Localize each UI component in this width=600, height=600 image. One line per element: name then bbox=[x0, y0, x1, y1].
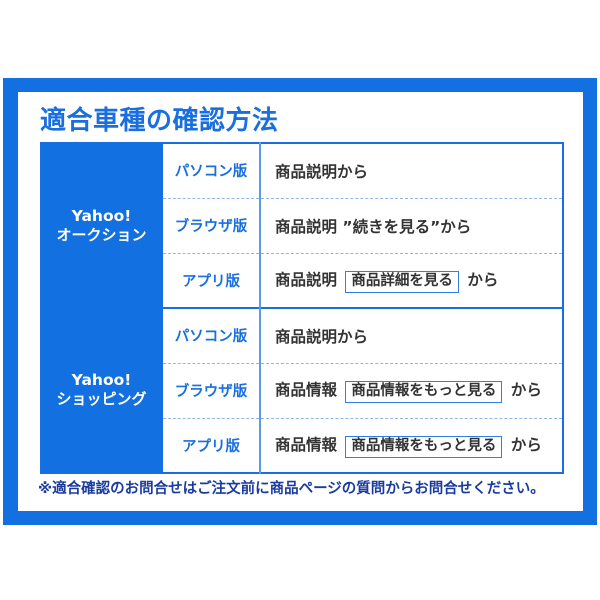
detail-suffix: から bbox=[511, 381, 542, 399]
platform-kind: オークション bbox=[42, 226, 161, 244]
detail-cell: 商品説明から bbox=[260, 308, 563, 363]
detail-suffix: から bbox=[467, 271, 498, 289]
platform-kind: ショッピング bbox=[42, 390, 161, 408]
detail-prefix: 商品情報 bbox=[275, 436, 337, 454]
device-cell-pc: パソコン版 bbox=[162, 308, 260, 363]
device-cell-browser: ブラウザ版 bbox=[162, 363, 260, 418]
info-banner: 適合車種の確認方法 Yahoo! オークション パソコン版 商品説明から ブラウ… bbox=[3, 78, 597, 525]
table-row: Yahoo! オークション パソコン版 商品説明から bbox=[41, 143, 563, 198]
boxed-label: 商品詳細を見る bbox=[345, 271, 459, 293]
page-title: 適合車種の確認方法 bbox=[40, 100, 279, 137]
platform-cell-shopping: Yahoo! ショッピング bbox=[41, 308, 162, 473]
platform-cell-auction: Yahoo! オークション bbox=[41, 143, 162, 308]
device-cell-pc: パソコン版 bbox=[162, 143, 260, 198]
boxed-label: 商品情報をもっと見る bbox=[345, 381, 502, 403]
table-row: Yahoo! ショッピング パソコン版 商品説明から bbox=[41, 308, 563, 363]
detail-cell: 商品情報 商品情報をもっと見る から bbox=[260, 418, 563, 473]
detail-prefix: 商品説明から bbox=[275, 328, 368, 346]
footnote-text: ※適合確認のお問合せはご注文前に商品ページの質問からお問合せください。 bbox=[38, 477, 545, 498]
compatibility-table: Yahoo! オークション パソコン版 商品説明から ブラウザ版 商品説明 ”続… bbox=[40, 142, 564, 474]
detail-prefix: 商品情報 bbox=[275, 381, 337, 399]
detail-suffix: から bbox=[511, 436, 542, 454]
banner-content: 適合車種の確認方法 Yahoo! オークション パソコン版 商品説明から ブラウ… bbox=[18, 92, 583, 511]
detail-cell: 商品説明 商品詳細を見る から bbox=[260, 253, 563, 308]
detail-cell: 商品説明 ”続きを見る”から bbox=[260, 198, 563, 253]
device-cell-app: アプリ版 bbox=[162, 253, 260, 308]
detail-cell: 商品情報 商品情報をもっと見る から bbox=[260, 363, 563, 418]
platform-brand: Yahoo! bbox=[42, 207, 161, 226]
platform-brand: Yahoo! bbox=[42, 371, 161, 390]
device-cell-browser: ブラウザ版 bbox=[162, 198, 260, 253]
detail-prefix: 商品説明 ”続きを見る”から bbox=[275, 218, 471, 236]
detail-prefix: 商品説明 bbox=[275, 271, 337, 289]
detail-cell: 商品説明から bbox=[260, 143, 563, 198]
device-cell-app: アプリ版 bbox=[162, 418, 260, 473]
detail-prefix: 商品説明から bbox=[275, 163, 368, 181]
boxed-label: 商品情報をもっと見る bbox=[345, 436, 502, 458]
